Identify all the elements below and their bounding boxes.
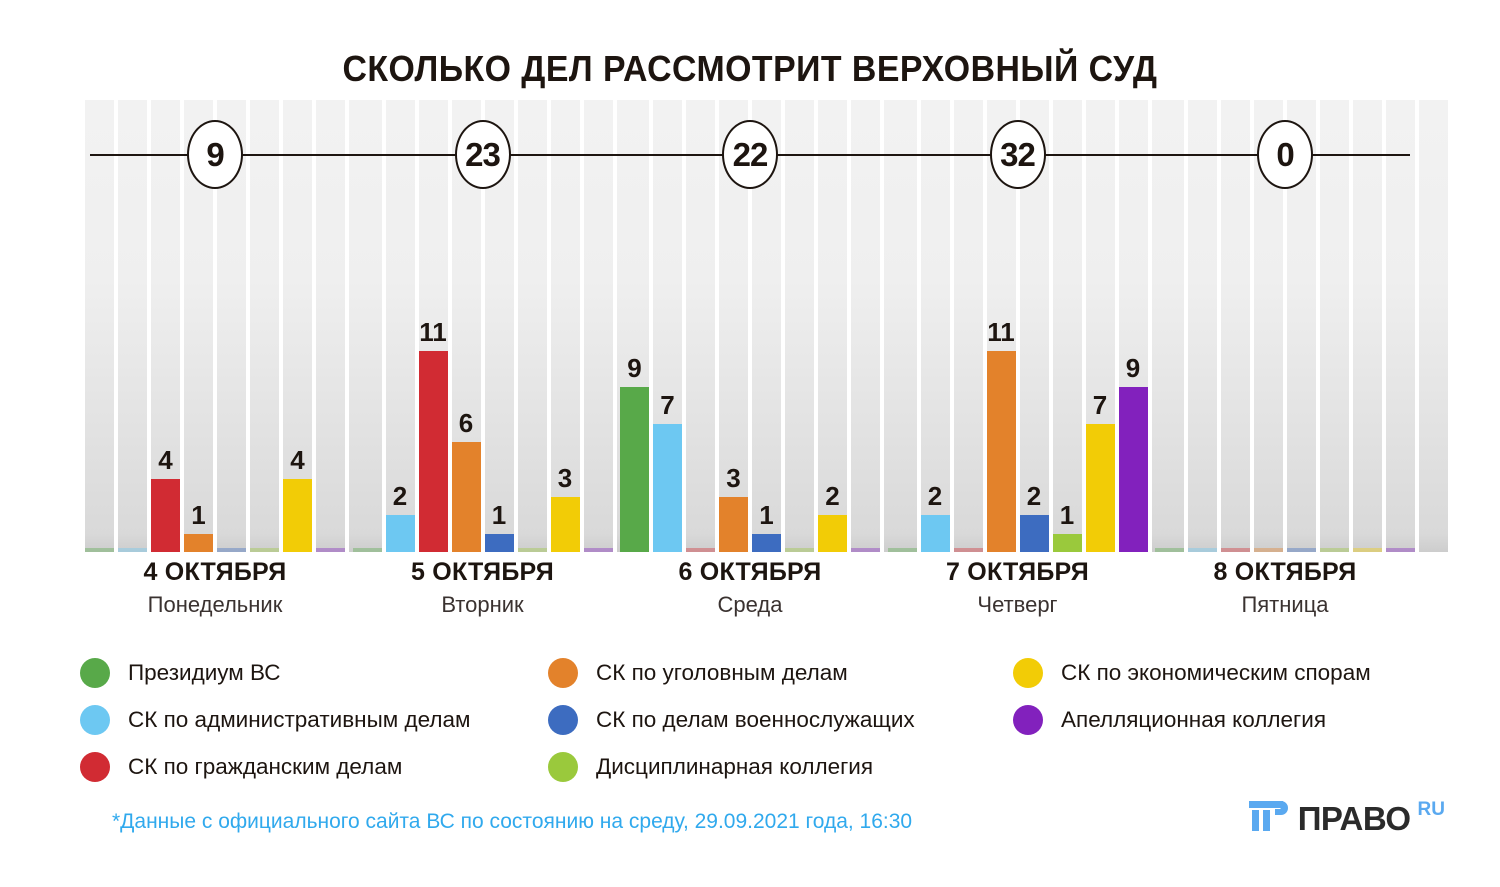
bar-slot	[1386, 100, 1415, 552]
bar-slot: 11	[419, 100, 448, 552]
legend-color-dot	[548, 705, 578, 735]
day-weekday: Четверг	[888, 592, 1148, 618]
logo-suffix: RU	[1418, 800, 1445, 819]
slot-color-tint	[217, 548, 246, 552]
bar-slot: 2	[386, 100, 415, 552]
legend-color-dot	[548, 658, 578, 688]
day-date: 8 ОКТЯБРЯ	[1155, 558, 1415, 587]
slot-color-tint	[518, 548, 547, 552]
bar-slot: 7	[1086, 100, 1115, 552]
legend-color-dot	[80, 752, 110, 782]
page-title: СКОЛЬКО ДЕЛ РАССМОТРИТ ВЕРХОВНЫЙ СУД	[45, 48, 1455, 90]
day-weekday: Вторник	[353, 592, 613, 618]
slot-color-tint	[1353, 548, 1382, 552]
bar-slot	[85, 100, 114, 552]
bar-slot: 1	[752, 100, 781, 552]
bar-slot: 9	[1119, 100, 1148, 552]
legend-label: Апелляционная коллегия	[1061, 707, 1326, 733]
bar-value-label: 6	[459, 410, 473, 436]
bar[interactable]	[1020, 515, 1049, 552]
legend-item: Дисциплинарная коллегия	[548, 752, 1013, 782]
slot-color-tint	[686, 548, 715, 552]
bar-value-label: 2	[1027, 483, 1041, 509]
slot-color-tint	[118, 548, 147, 552]
slot-color-tint	[250, 548, 279, 552]
day-group: 97312	[620, 100, 913, 552]
bar[interactable]	[419, 351, 448, 552]
bar-value-label: 9	[1126, 355, 1140, 381]
logo-wordmark: ПРАВО	[1298, 802, 1411, 835]
chart-legend: Президиум ВССК по уголовным деламСК по э…	[80, 658, 1460, 782]
bar-value-label: 3	[558, 465, 572, 491]
bar-slot: 2	[1020, 100, 1049, 552]
bar[interactable]	[184, 534, 213, 552]
day-date: 7 ОКТЯБРЯ	[888, 558, 1148, 587]
bar[interactable]	[386, 515, 415, 552]
bar-slot: 3	[719, 100, 748, 552]
bar-value-label: 1	[1060, 502, 1074, 528]
bar-value-label: 9	[627, 355, 641, 381]
bar-slot: 2	[921, 100, 950, 552]
legend-color-dot	[1013, 705, 1043, 735]
slot-color-tint	[785, 548, 814, 552]
bar[interactable]	[921, 515, 950, 552]
day-labels: 4 ОКТЯБРЯПонедельник5 ОКТЯБРЯВторник6 ОК…	[85, 558, 1415, 632]
day-date: 6 ОКТЯБРЯ	[620, 558, 880, 587]
bar-value-label: 4	[158, 447, 172, 473]
bar[interactable]	[485, 534, 514, 552]
bar[interactable]	[452, 442, 481, 552]
bar[interactable]	[1086, 424, 1115, 552]
bar-value-label: 2	[825, 483, 839, 509]
bar-value-label: 7	[660, 392, 674, 418]
legend-label: Дисциплинарная коллегия	[596, 754, 873, 780]
day-label: 4 ОКТЯБРЯПонедельник	[85, 558, 345, 618]
slot-color-tint	[1221, 548, 1250, 552]
slot-color-tint	[316, 548, 345, 552]
day-label: 5 ОКТЯБРЯВторник	[353, 558, 613, 618]
legend-item: СК по экономическим спорам	[1013, 658, 1443, 688]
slot-color-tint	[888, 548, 917, 552]
legend-item: СК по делам военнослужащих	[548, 705, 1013, 735]
bar-slot: 1	[485, 100, 514, 552]
footnote: *Данные с официального сайта ВС по состо…	[112, 810, 912, 834]
bar[interactable]	[620, 387, 649, 552]
legend-item: СК по административным делам	[80, 705, 548, 735]
slot-color-tint	[85, 548, 114, 552]
bar-slot: 1	[1053, 100, 1082, 552]
day-label: 6 ОКТЯБРЯСреда	[620, 558, 880, 618]
day-weekday: Пятница	[1155, 592, 1415, 618]
bar-value-label: 3	[726, 465, 740, 491]
pravo-ru-logo[interactable]: ПРАВО RU	[1249, 799, 1445, 838]
legend-label: СК по уголовным делам	[596, 660, 848, 686]
bar-slot: 3	[551, 100, 580, 552]
day-group: 211613	[353, 100, 646, 552]
bar[interactable]	[551, 497, 580, 552]
bar-slot	[250, 100, 279, 552]
legend-label: СК по административным делам	[128, 707, 470, 733]
bar-slot: 11	[987, 100, 1016, 552]
bar-slot	[118, 100, 147, 552]
bar-chart-plot-area: 414211613973122112179	[85, 100, 1415, 552]
legend-item: Апелляционная коллегия	[1013, 705, 1443, 735]
bar-slot	[1155, 100, 1184, 552]
bar-slot	[1188, 100, 1217, 552]
bar-slot: 9	[620, 100, 649, 552]
bar-value-label: 7	[1093, 392, 1107, 418]
bar-slot	[888, 100, 917, 552]
bar-slot: 2	[818, 100, 847, 552]
bar-slot-filler	[1419, 100, 1448, 552]
day-group	[1155, 100, 1448, 552]
bar-value-label: 11	[419, 319, 447, 345]
legend-label: СК по экономическим спорам	[1061, 660, 1371, 686]
legend-color-dot	[80, 705, 110, 735]
bar[interactable]	[818, 515, 847, 552]
bar-slot	[785, 100, 814, 552]
bar-value-label: 2	[393, 483, 407, 509]
day-weekday: Среда	[620, 592, 880, 618]
bar-value-label: 1	[492, 502, 506, 528]
bar[interactable]	[1053, 534, 1082, 552]
day-date: 5 ОКТЯБРЯ	[353, 558, 613, 587]
pravo-logo-icon	[1249, 799, 1289, 838]
slot-color-tint	[1188, 548, 1217, 552]
bar-slot	[1353, 100, 1382, 552]
bar-slot	[518, 100, 547, 552]
bar-value-label: 11	[987, 319, 1015, 345]
bar-slot	[584, 100, 613, 552]
bar-value-label: 2	[928, 483, 942, 509]
bar-slot	[1320, 100, 1349, 552]
day-group: 414	[85, 100, 378, 552]
slot-color-tint	[1155, 548, 1184, 552]
bar[interactable]	[653, 424, 682, 552]
slot-color-tint	[353, 548, 382, 552]
bar-value-label: 1	[191, 502, 205, 528]
legend-item: Президиум ВС	[80, 658, 548, 688]
bar-slot	[353, 100, 382, 552]
day-label: 8 ОКТЯБРЯПятница	[1155, 558, 1415, 618]
bar[interactable]	[987, 351, 1016, 552]
bar-value-label: 4	[290, 447, 304, 473]
bar-slot: 1	[184, 100, 213, 552]
legend-color-dot	[548, 752, 578, 782]
slot-color-tint	[851, 548, 880, 552]
slot-color-tint	[1320, 548, 1349, 552]
legend-item: СК по уголовным делам	[548, 658, 1013, 688]
bar[interactable]	[151, 479, 180, 552]
bar-slot	[1221, 100, 1250, 552]
bar[interactable]	[283, 479, 312, 552]
bar[interactable]	[1119, 387, 1148, 552]
legend-color-dot	[80, 658, 110, 688]
bar-value-label: 1	[759, 502, 773, 528]
bar-slot: 6	[452, 100, 481, 552]
bar-slot	[1254, 100, 1283, 552]
bar-slot	[851, 100, 880, 552]
bar-slot: 4	[283, 100, 312, 552]
legend-label: Президиум ВС	[128, 660, 281, 686]
bar-slot: 7	[653, 100, 682, 552]
day-label: 7 ОКТЯБРЯЧетверг	[888, 558, 1148, 618]
legend-label: СК по делам военнослужащих	[596, 707, 915, 733]
bar-slot	[1287, 100, 1316, 552]
slot-color-tint	[584, 548, 613, 552]
day-date: 4 ОКТЯБРЯ	[85, 558, 345, 587]
bar[interactable]	[719, 497, 748, 552]
bar[interactable]	[752, 534, 781, 552]
bar-slot	[686, 100, 715, 552]
slot-color-tint	[1386, 548, 1415, 552]
legend-color-dot	[1013, 658, 1043, 688]
slot-color-tint	[1254, 548, 1283, 552]
bar-slot	[954, 100, 983, 552]
bar-slot	[217, 100, 246, 552]
day-group: 2112179	[888, 100, 1181, 552]
day-weekday: Понедельник	[85, 592, 345, 618]
legend-label: СК по гражданским делам	[128, 754, 402, 780]
slot-color-tint	[1287, 548, 1316, 552]
slot-color-tint	[954, 548, 983, 552]
bar-slot	[316, 100, 345, 552]
legend-item: СК по гражданским делам	[80, 752, 548, 782]
bar-slot: 4	[151, 100, 180, 552]
